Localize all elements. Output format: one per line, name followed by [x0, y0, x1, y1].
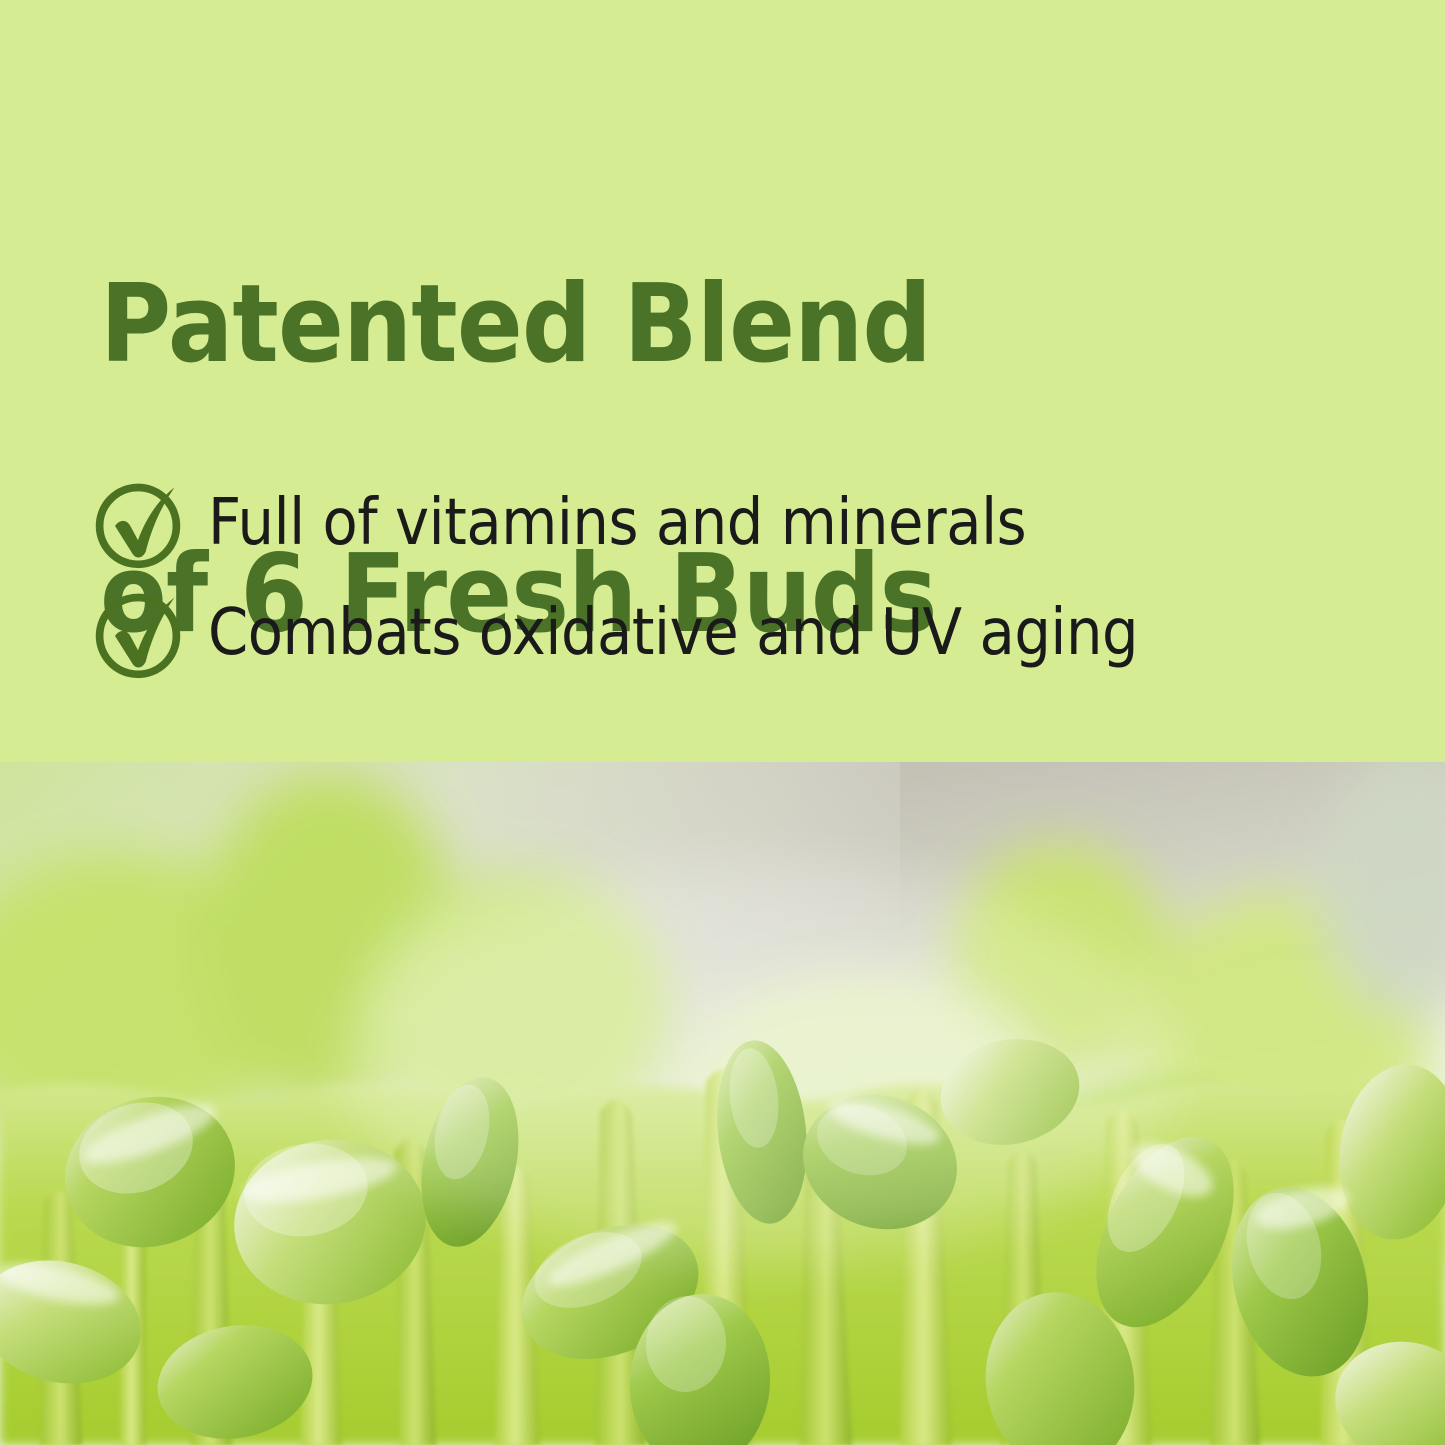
green-content-panel: Patented Blend of 6 Fresh Buds Full of v…: [0, 0, 1445, 762]
promo-banner: Patented Blend of 6 Fresh Buds Full of v…: [0, 0, 1445, 1445]
headline-line-1: Patented Blend: [100, 257, 1090, 392]
sprouts-photo: [0, 762, 1445, 1445]
check-circle-icon: [90, 585, 186, 681]
list-item-label: Full of vitamins and minerals: [208, 488, 1026, 558]
benefits-list: Full of vitamins and minerals Combats ox…: [90, 468, 1420, 688]
list-item: Full of vitamins and minerals: [90, 468, 1420, 578]
list-item: Combats oxidative and UV aging: [90, 578, 1420, 688]
list-item-label: Combats oxidative and UV aging: [208, 598, 1138, 668]
check-circle-icon: [90, 475, 186, 571]
